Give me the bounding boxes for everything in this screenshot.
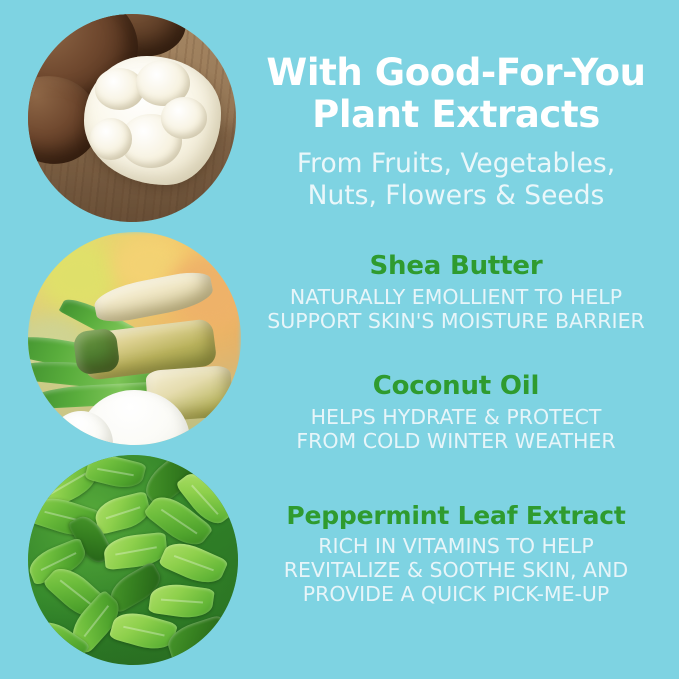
shea-butter-lump-4 [90, 118, 132, 160]
leaf-vein [97, 468, 134, 476]
product-ingredient-infographic: With Good-For-You Plant Extracts From Fr… [0, 0, 679, 679]
peppermint-leaf-image [28, 455, 238, 665]
headline-line-2: Plant Extracts [256, 94, 656, 136]
subtitle-line-2: Nuts, Flowers & Seeds [256, 180, 656, 212]
peppermint-photo [28, 455, 238, 665]
ingredient-block-peppermint-leaf-extract: Peppermint Leaf Extract RICH IN VITAMINS… [256, 502, 656, 606]
leaf-vein [115, 546, 156, 555]
leaf-vein [124, 626, 165, 636]
leaf-vein [50, 472, 87, 494]
shea-butter-lump-5 [161, 97, 207, 139]
coconut-oil-image [28, 232, 241, 445]
page-title: With Good-For-You Plant Extracts [256, 52, 656, 136]
leaf-vein [160, 509, 196, 534]
shea-butter-photo [28, 14, 236, 222]
ingredient-name-shea-butter: Shea Butter [256, 252, 656, 281]
sugarcane-photo [28, 232, 241, 445]
sugarcane-node [72, 328, 119, 375]
ingredient-block-shea-butter: Shea Butter NATURALLY EMOLLIENT TO HELP … [256, 252, 656, 333]
ingredient-block-coconut-oil: Coconut Oil HELPS HYDRATE & PROTECT FROM… [256, 372, 656, 453]
leaf-vein [161, 599, 203, 603]
page-subtitle: From Fruits, Vegetables, Nuts, Flowers &… [256, 148, 656, 212]
ingredient-name-coconut-oil: Coconut Oil [256, 372, 656, 401]
shea-butter-image [28, 14, 236, 222]
ingredient-name-peppermint-leaf-extract: Peppermint Leaf Extract [256, 502, 656, 530]
copy-column: With Good-For-You Plant Extracts From Fr… [256, 0, 656, 679]
leaf-vein [191, 485, 218, 515]
leaf-vein [106, 506, 141, 519]
headline-line-1: With Good-For-You [256, 52, 656, 94]
ingredient-description-coconut-oil: HELPS HYDRATE & PROTECT FROM COLD WINTER… [256, 405, 656, 453]
subtitle-line-1: From Fruits, Vegetables, [256, 148, 656, 180]
ingredient-description-shea-butter: NATURALLY EMOLLIENT TO HELP SUPPORT SKIN… [256, 285, 656, 333]
leaf-vein [83, 606, 108, 637]
leaf-vein [60, 580, 94, 607]
leaf-vein [175, 556, 215, 572]
ingredient-description-peppermint-leaf-extract: RICH IN VITAMINS TO HELP REVITALIZE & SO… [256, 534, 656, 607]
